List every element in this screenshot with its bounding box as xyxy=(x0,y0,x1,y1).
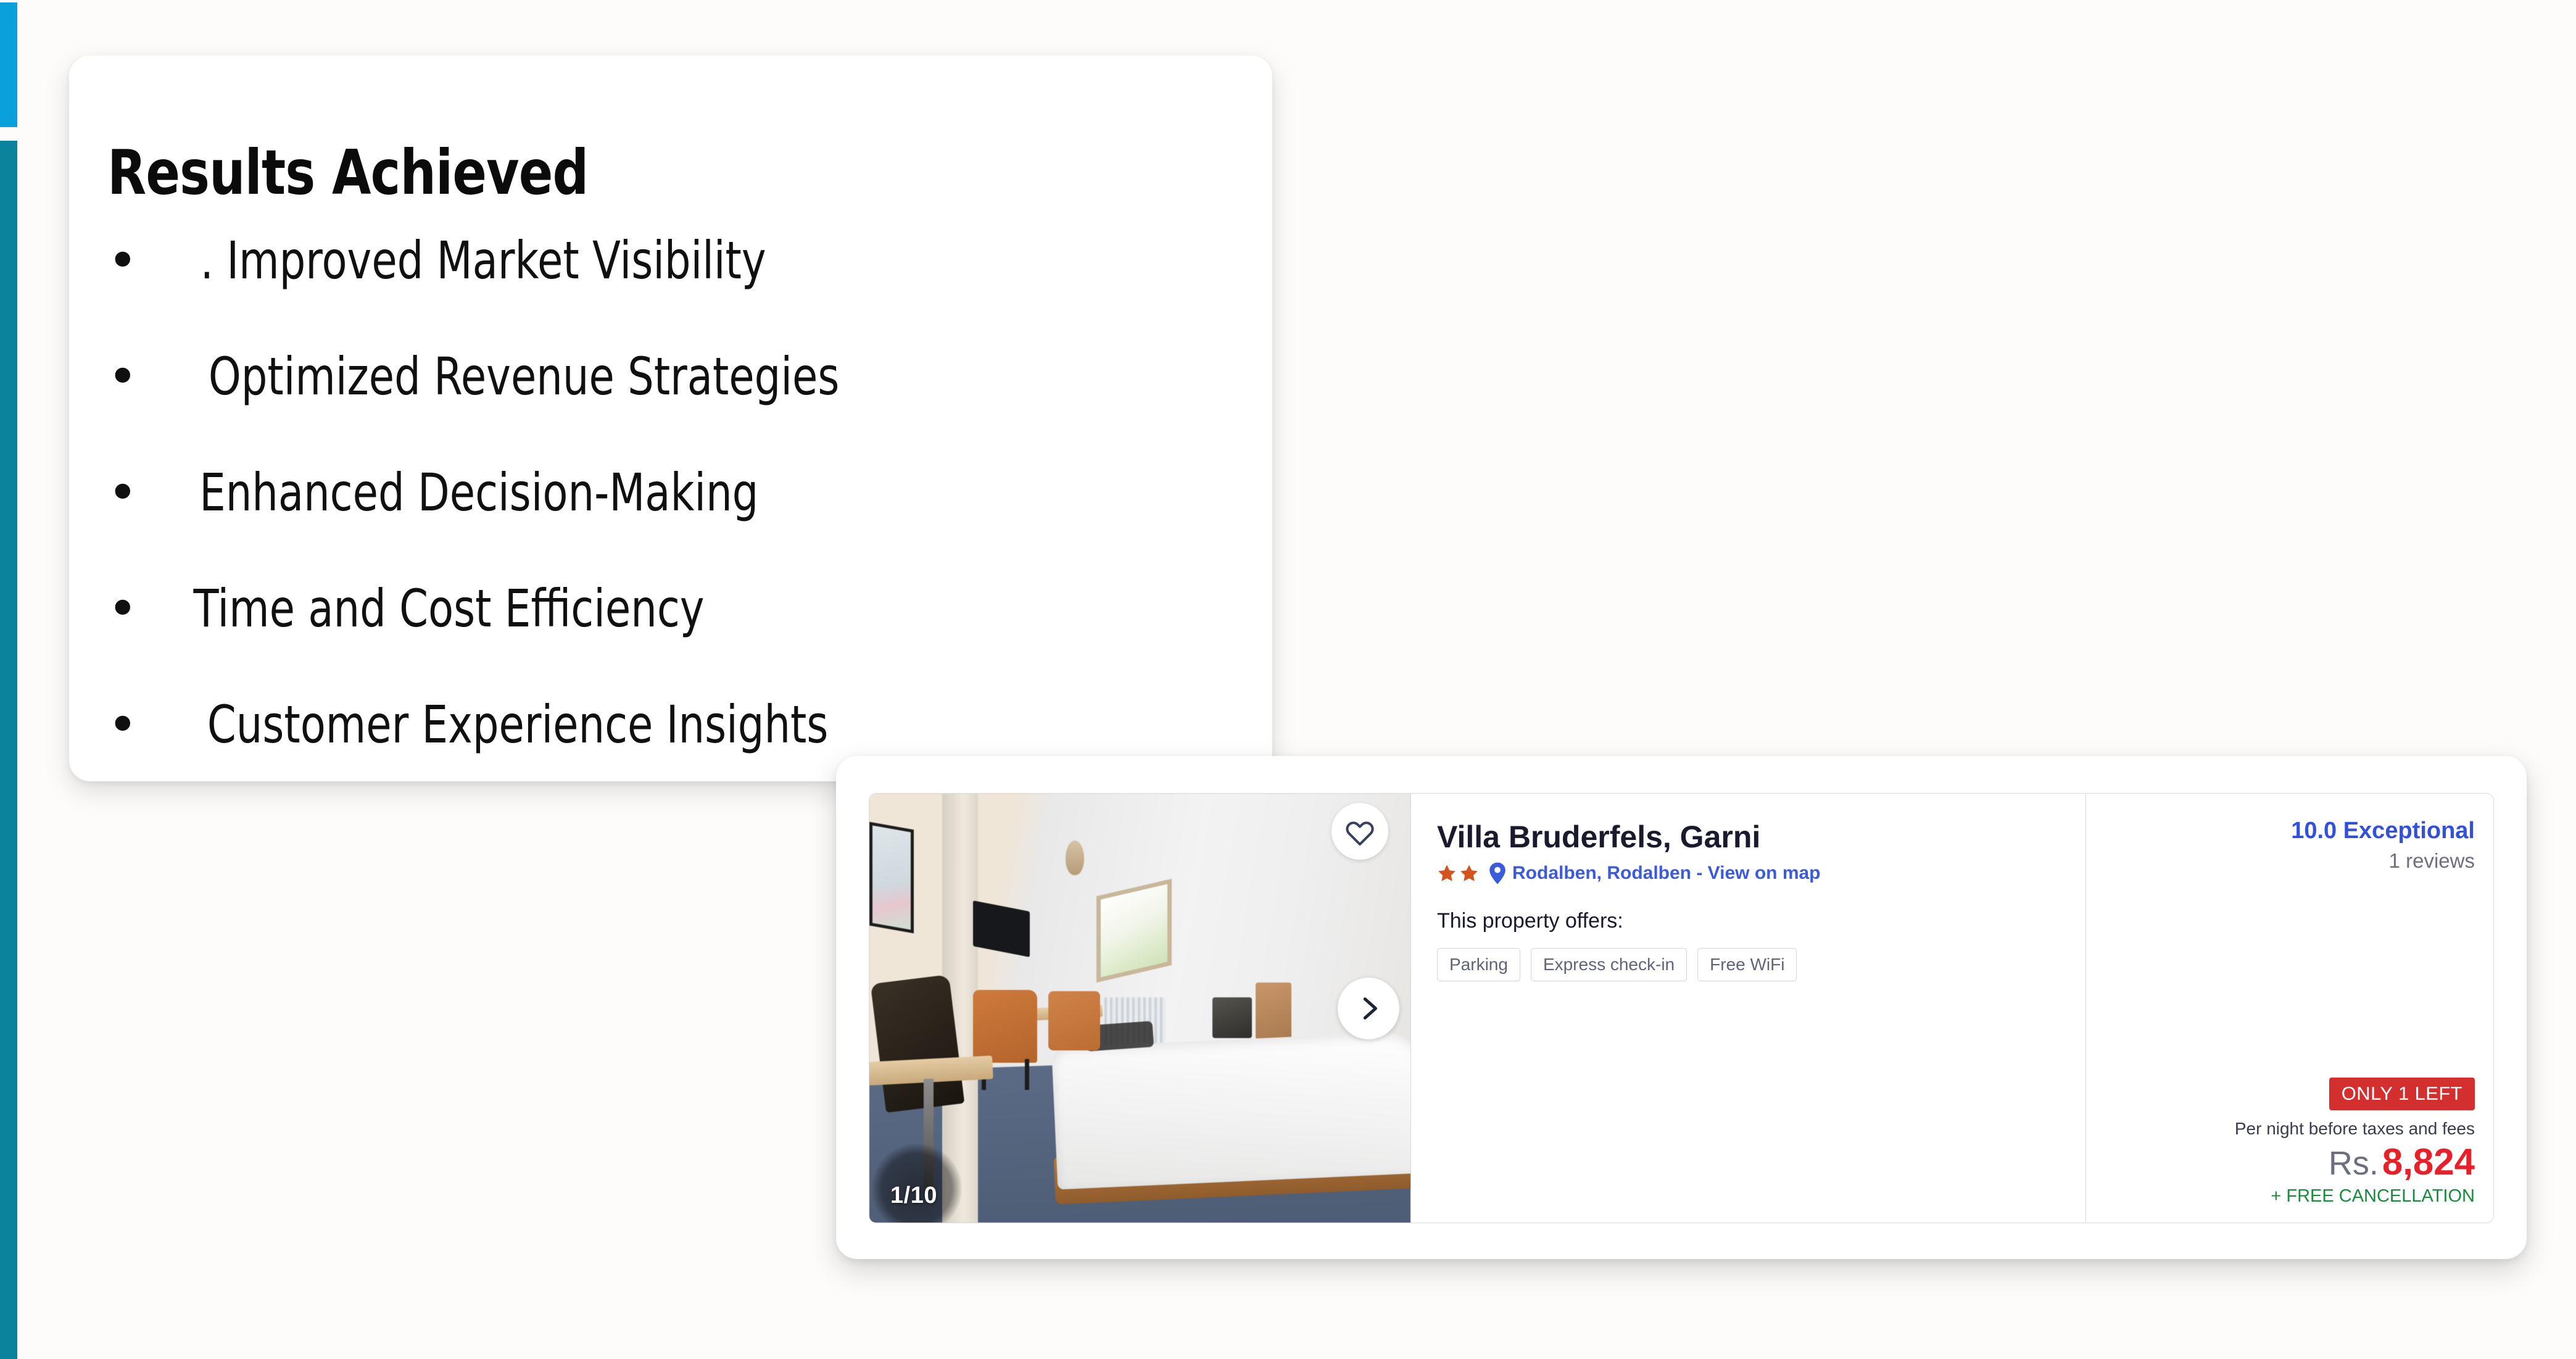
hotel-meta-row: Rodalben, Rodalben - View on map xyxy=(1437,862,2085,884)
bullet-icon: • xyxy=(107,699,130,750)
amenity-pill-express-check-in[interactable]: Express check-in xyxy=(1531,948,1687,981)
amenity-list: Parking Express check-in Free WiFi xyxy=(1437,948,2085,981)
hotel-card-inner: 1/10 Villa Bruderfels, Garni Rodalben, R… xyxy=(869,793,2494,1223)
list-item: • . Improved Market Visibility xyxy=(107,235,1218,351)
review-count[interactable]: 1 reviews xyxy=(2101,849,2475,873)
list-item-label: Time and Cost Efficiency xyxy=(194,583,705,634)
rating-score[interactable]: 10.0 Exceptional xyxy=(2101,818,2475,844)
heart-icon[interactable] xyxy=(1331,803,1388,860)
list-item-label: Optimized Revenue Strategies xyxy=(209,351,840,402)
star-icon xyxy=(1459,863,1479,883)
hotel-name[interactable]: Villa Bruderfels, Garni xyxy=(1437,821,2085,854)
price-note: Per night before taxes and fees xyxy=(2101,1119,2475,1139)
bullet-icon: • xyxy=(107,583,130,634)
hotel-price-pane: 10.0 Exceptional 1 reviews ONLY 1 LEFT P… xyxy=(2086,794,2493,1223)
free-cancellation-note: + FREE CANCELLATION xyxy=(2101,1186,2475,1207)
accent-bar-bottom xyxy=(0,141,17,1359)
page-title: Results Achieved xyxy=(107,142,588,204)
list-item-label: . Improved Market Visibility xyxy=(201,235,766,286)
price-value: 8,824 xyxy=(2382,1141,2475,1182)
accent-bar-top xyxy=(0,2,17,127)
property-offers-label: This property offers: xyxy=(1437,909,2085,933)
map-pin-icon xyxy=(1489,862,1506,884)
price-currency: Rs. xyxy=(2329,1145,2379,1182)
list-item-label: Enhanced Decision-Making xyxy=(199,467,758,518)
view-on-map-link[interactable]: Rodalben, Rodalben - View on map xyxy=(1512,863,1821,884)
list-item-label: Customer Experience Insights xyxy=(207,699,829,750)
bullet-icon: • xyxy=(107,235,130,286)
star-rating xyxy=(1437,863,1479,883)
bullet-icon: • xyxy=(107,467,130,518)
chevron-right-icon[interactable] xyxy=(1338,978,1399,1039)
results-achieved-card: Results Achieved • . Improved Market Vis… xyxy=(69,56,1272,781)
list-item: • Optimized Revenue Strategies xyxy=(107,351,1218,467)
hotel-photo-pane[interactable]: 1/10 xyxy=(869,794,1410,1223)
results-list: • . Improved Market Visibility • Optimiz… xyxy=(107,235,1218,815)
hotel-info-pane: Villa Bruderfels, Garni Rodalben, Rodalb… xyxy=(1410,794,2086,1223)
amenity-pill-parking[interactable]: Parking xyxy=(1437,948,1520,981)
price-amount: Rs.8,824 xyxy=(2101,1142,2475,1181)
hotel-result-card[interactable]: 1/10 Villa Bruderfels, Garni Rodalben, R… xyxy=(836,756,2527,1259)
bullet-icon: • xyxy=(107,351,130,402)
photo-counter: 1/10 xyxy=(890,1182,937,1209)
list-item: • Enhanced Decision-Making xyxy=(107,467,1218,583)
status-badge: ONLY 1 LEFT xyxy=(2329,1078,2475,1110)
price-block: ONLY 1 LEFT Per night before taxes and f… xyxy=(2101,1078,2475,1207)
amenity-pill-free-wifi[interactable]: Free WiFi xyxy=(1697,948,1797,981)
list-item: • Time and Cost Efficiency xyxy=(107,583,1218,699)
star-icon xyxy=(1437,863,1457,883)
